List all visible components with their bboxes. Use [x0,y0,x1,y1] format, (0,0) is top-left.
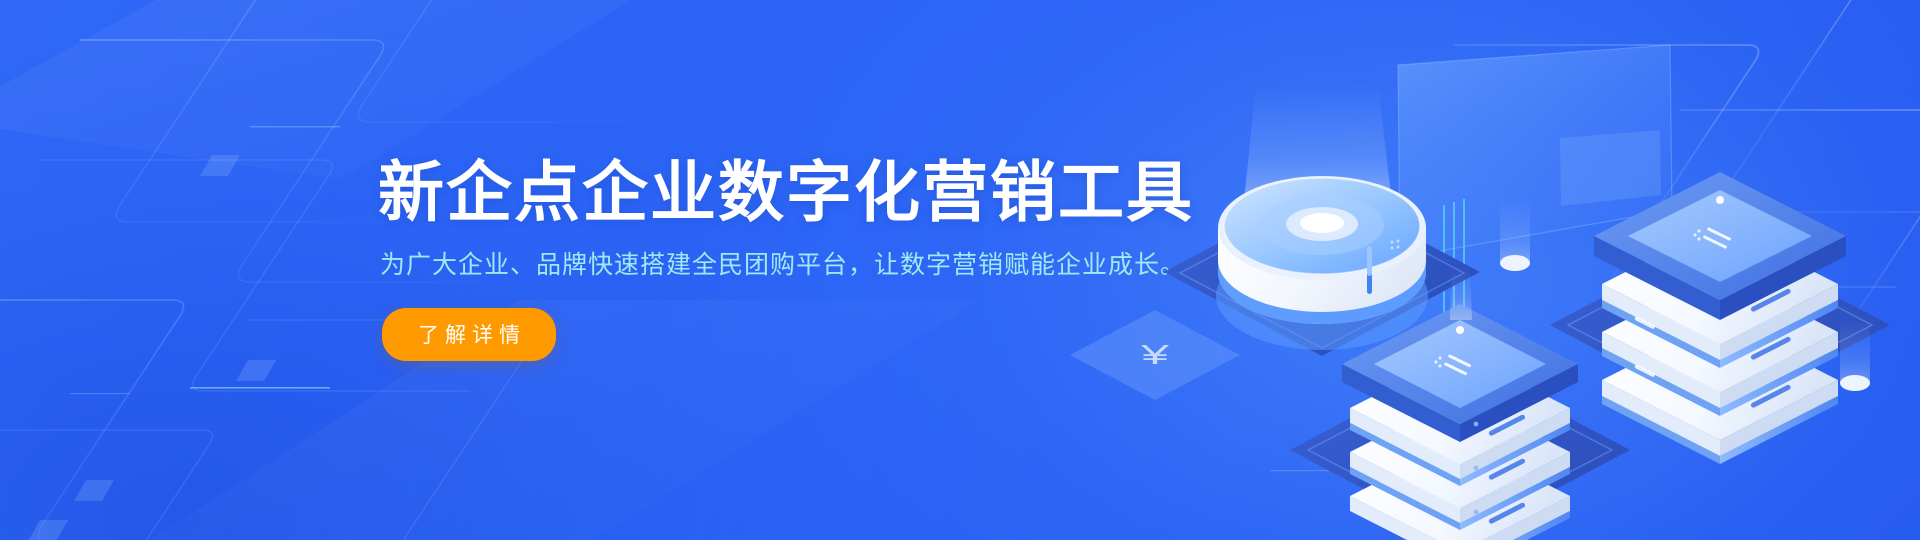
yuan-currency-tile: ¥ [1070,310,1240,400]
yuan-symbol: ¥ [1140,338,1170,370]
indicator-post-1 [1500,200,1530,271]
promo-banner: 新企点企业数字化营销工具 为广大企业、品牌快速搭建全民团购平台，让数字营销赋能企… [0,0,1920,540]
smart-cylinder-device [1216,176,1428,350]
isometric-datacenter-illustration: ¥ [1060,20,1920,540]
indicator-post-2 [1840,320,1870,391]
learn-more-button[interactable]: 了解详情 [382,308,556,361]
